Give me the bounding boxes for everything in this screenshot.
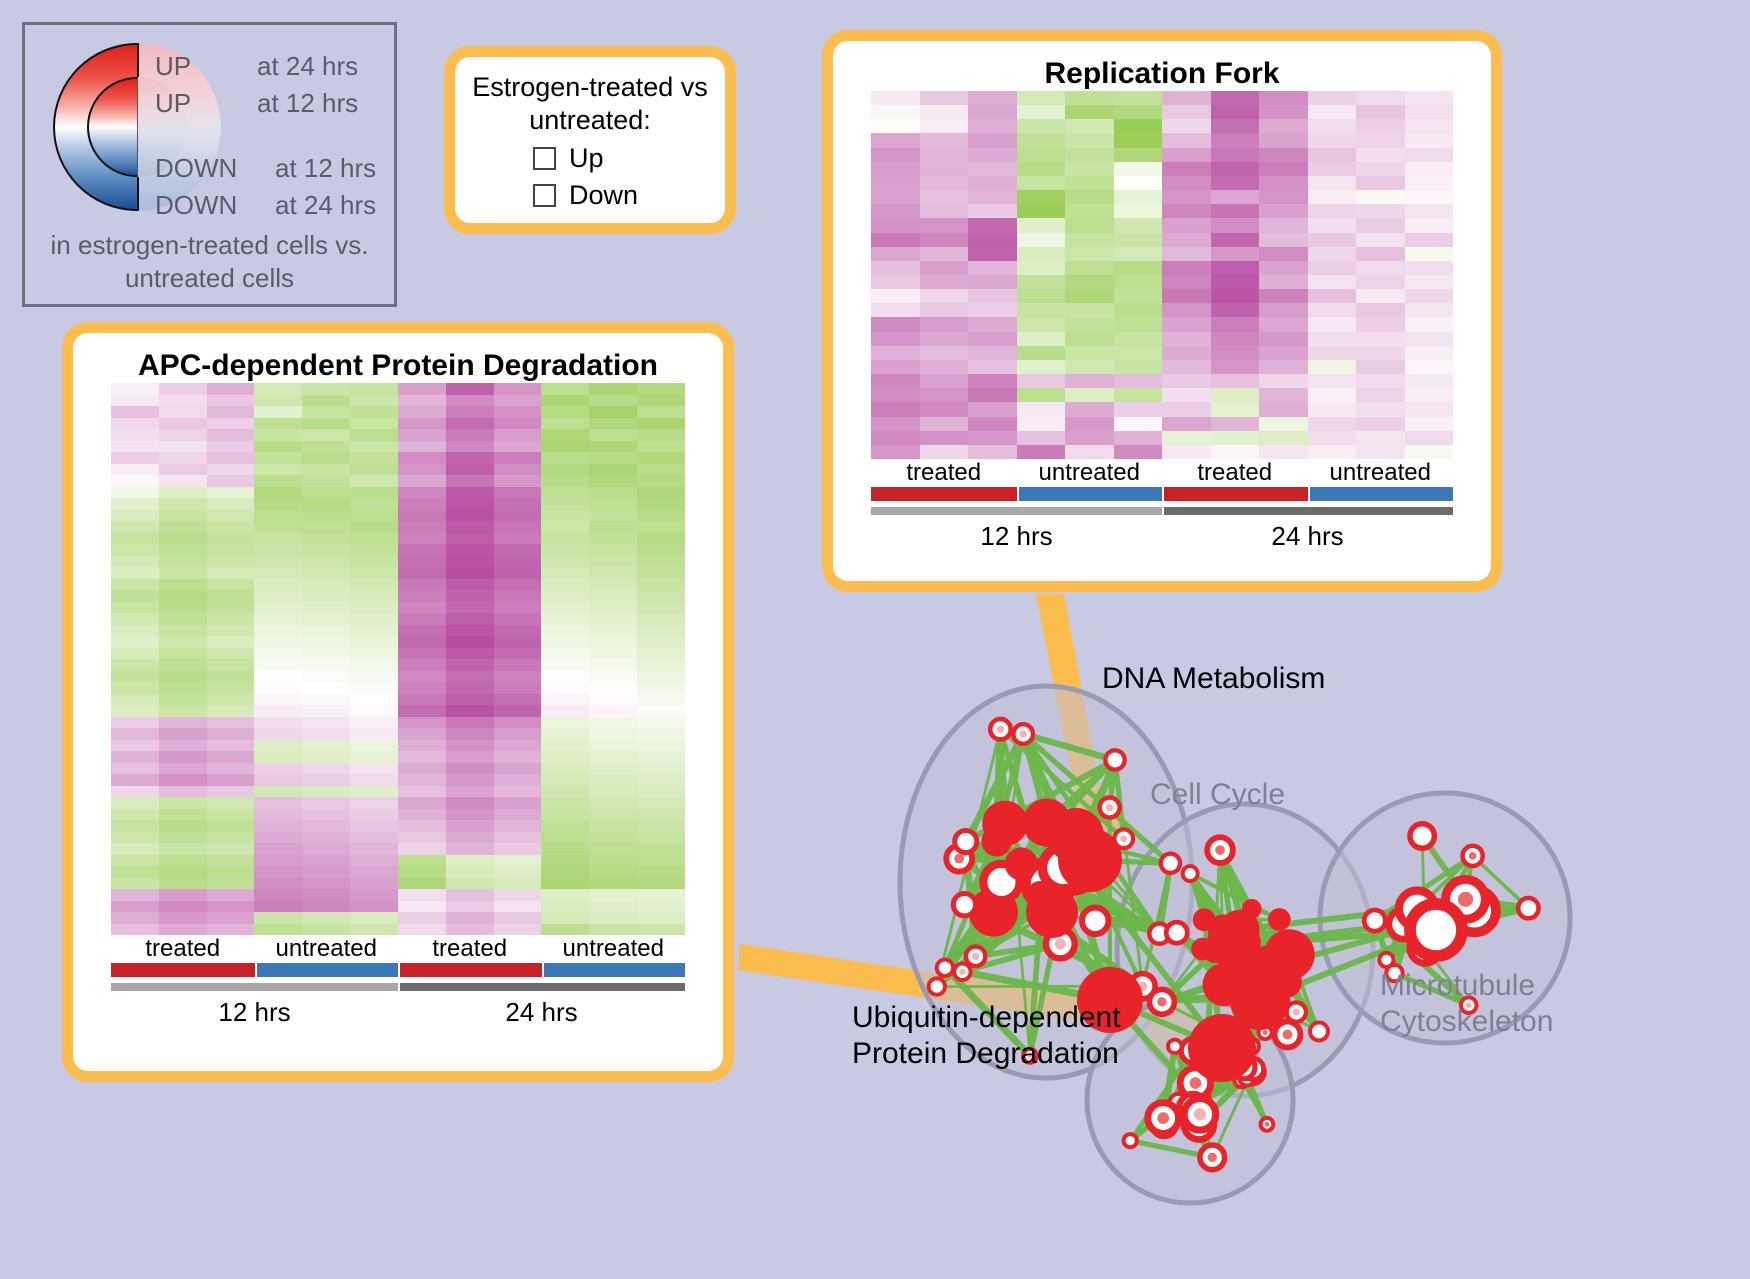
heatmap-cell xyxy=(494,613,542,625)
network-node-center xyxy=(1090,916,1100,926)
heatmap-cell xyxy=(1259,105,1308,119)
heatmap-cell xyxy=(1065,445,1114,459)
heatmap-cell xyxy=(494,429,542,441)
heatmap-cell xyxy=(1065,317,1114,331)
heatmap-cell xyxy=(637,843,685,855)
legend-down-label: Down xyxy=(569,180,638,211)
heatmap-cell xyxy=(1162,275,1211,289)
heatmap-cell xyxy=(159,763,207,775)
treatment-bar-untreated xyxy=(542,963,686,977)
heatmap-cell xyxy=(541,383,589,395)
apc-title: APC-dependent Protein Degradation xyxy=(73,349,723,383)
heatmap-cell xyxy=(159,671,207,683)
heatmap-cell xyxy=(350,429,398,441)
network-node xyxy=(1227,947,1277,997)
heatmap-cell xyxy=(1259,417,1308,431)
heatmap-cell xyxy=(159,912,207,924)
heatmap-cell xyxy=(254,625,302,637)
heatmap-cell xyxy=(350,705,398,717)
heatmap-cell xyxy=(159,728,207,740)
heatmap-cell xyxy=(111,648,159,660)
heatmap-cell xyxy=(111,544,159,556)
heatmap-cell xyxy=(159,475,207,487)
heatmap-cell xyxy=(1162,247,1211,261)
heatmap-cell xyxy=(494,717,542,729)
heatmap-cell xyxy=(494,659,542,671)
heatmap-cell xyxy=(159,636,207,648)
heatmap-cell xyxy=(1308,374,1357,388)
heatmap-cell xyxy=(1211,402,1260,416)
heatmap-cell xyxy=(920,402,969,416)
cluster-label-dna-metabolism: DNA Metabolism xyxy=(1102,662,1325,696)
heatmap-cell xyxy=(1356,133,1405,147)
heatmap-cell xyxy=(494,521,542,533)
heatmap-cell xyxy=(1308,360,1357,374)
heatmap-cell xyxy=(254,590,302,602)
heatmap-cell xyxy=(1405,162,1454,176)
heatmap-cell xyxy=(1114,360,1163,374)
heatmap-cell xyxy=(398,395,446,407)
heatmap-cell xyxy=(1405,261,1454,275)
heatmap-cell xyxy=(589,878,637,890)
heatmap-cell xyxy=(1211,105,1260,119)
heatmap-cell xyxy=(1114,247,1163,261)
heatmap-cell xyxy=(1405,176,1454,190)
heatmap-cell xyxy=(1356,402,1405,416)
heatmap-cell xyxy=(398,636,446,648)
heatmap-cell xyxy=(920,148,969,162)
heatmap-cell xyxy=(1162,332,1211,346)
heatmap-cell xyxy=(637,671,685,683)
heatmap-cell xyxy=(589,809,637,821)
heatmap-cell xyxy=(111,671,159,683)
heatmap-cell xyxy=(589,567,637,579)
heatmap-cell xyxy=(1211,317,1260,331)
heatmap-cell xyxy=(541,464,589,476)
heatmap-cell xyxy=(207,406,255,418)
heatmap-cell xyxy=(494,866,542,878)
heatmap-cell xyxy=(968,317,1017,331)
heatmap-cell xyxy=(254,418,302,430)
heatmap-cell xyxy=(1114,190,1163,204)
heatmap-cell xyxy=(398,487,446,499)
heatmap-cell xyxy=(207,786,255,798)
heatmap-cell xyxy=(446,395,494,407)
heatmap-cell xyxy=(920,247,969,261)
key-label-up-24: UP xyxy=(155,51,191,82)
heatmap-cell xyxy=(1259,91,1308,105)
network-node-center xyxy=(934,983,940,989)
heatmap-cell xyxy=(1211,218,1260,232)
heatmap-cell xyxy=(637,659,685,671)
heatmap-cell xyxy=(207,602,255,614)
heatmap-cell xyxy=(494,418,542,430)
heatmap-cell xyxy=(159,682,207,694)
heatmap-cell xyxy=(968,176,1017,190)
heatmap-cell xyxy=(1211,176,1260,190)
apc-treatment-bars xyxy=(111,963,685,977)
heatmap-cell xyxy=(1017,247,1066,261)
heatmap-cell xyxy=(541,659,589,671)
heatmap-cell xyxy=(302,797,350,809)
heatmap-cell xyxy=(207,774,255,786)
heatmap-cell xyxy=(968,148,1017,162)
heatmap-cell xyxy=(350,682,398,694)
network-node-center xyxy=(1426,920,1446,940)
heatmap-cell xyxy=(589,406,637,418)
network-node-center xyxy=(1208,1153,1217,1162)
heatmap-cell xyxy=(1065,303,1114,317)
heatmap-cell xyxy=(350,924,398,936)
heatmap-cell xyxy=(589,613,637,625)
heatmap-cell xyxy=(1356,346,1405,360)
heatmap-cell xyxy=(111,797,159,809)
heatmap-cell xyxy=(494,671,542,683)
heatmap-cell xyxy=(398,590,446,602)
heatmap-cell xyxy=(159,510,207,522)
heatmap-cell xyxy=(1017,332,1066,346)
heatmap-cell xyxy=(637,418,685,430)
heatmap-cell xyxy=(1259,133,1308,147)
cluster-label-microtubule-cytoskeleton: Microtubule Cytoskeleton xyxy=(1380,968,1553,1040)
heatmap-cell xyxy=(1162,317,1211,331)
heatmap-cell xyxy=(1405,105,1454,119)
treatment-bar-untreated xyxy=(1017,487,1163,501)
heatmap-cell xyxy=(1211,332,1260,346)
heatmap-cell xyxy=(350,441,398,453)
heatmap-cell xyxy=(1017,431,1066,445)
heatmap-cell xyxy=(398,740,446,752)
heatmap-cell xyxy=(302,912,350,924)
heatmap-cell xyxy=(1356,91,1405,105)
heatmap-cell xyxy=(111,843,159,855)
heatmap-cell xyxy=(207,843,255,855)
heatmap-cell xyxy=(1259,119,1308,133)
heatmap-cell xyxy=(968,332,1017,346)
heatmap-cell xyxy=(589,544,637,556)
heatmap-cell xyxy=(1017,133,1066,147)
heatmap-cell xyxy=(1405,119,1454,133)
heatmap-cell xyxy=(254,774,302,786)
time-bar-24-hrs xyxy=(398,983,685,991)
heatmap-cell xyxy=(637,544,685,556)
heatmap-cell xyxy=(254,556,302,568)
heatmap-cell xyxy=(871,176,920,190)
heatmap-cell xyxy=(968,133,1017,147)
heatmap-cell xyxy=(350,740,398,752)
heatmap-cell xyxy=(302,694,350,706)
heatmap-cell xyxy=(446,694,494,706)
heatmap-cell xyxy=(589,498,637,510)
heatmap-cell xyxy=(111,889,159,901)
heatmap-cell xyxy=(159,740,207,752)
heatmap-cell xyxy=(207,797,255,809)
heatmap-cell xyxy=(1114,176,1163,190)
heatmap-cell xyxy=(1356,417,1405,431)
heatmap-cell xyxy=(637,912,685,924)
heatmap-cell xyxy=(1211,374,1260,388)
heatmap-cell xyxy=(398,567,446,579)
color-key-box: UP at 24 hrs UP at 12 hrs DOWN at 12 hrs… xyxy=(22,22,397,307)
apc-time-bars xyxy=(111,983,685,991)
heatmap-cell xyxy=(350,544,398,556)
heatmap-cell xyxy=(159,521,207,533)
heatmap-cell xyxy=(1162,289,1211,303)
heatmap-cell xyxy=(871,261,920,275)
heatmap-cell xyxy=(968,204,1017,218)
heatmap-cell xyxy=(398,878,446,890)
heatmap-cell xyxy=(871,417,920,431)
heatmap-cell xyxy=(446,671,494,683)
network-node-center xyxy=(1128,1138,1133,1143)
heatmap-cell xyxy=(398,613,446,625)
heatmap-cell xyxy=(1114,346,1163,360)
network-node-center xyxy=(995,875,1009,889)
heatmap-cell xyxy=(1162,91,1211,105)
heatmap-cell xyxy=(1211,275,1260,289)
network-node-center xyxy=(1316,1028,1323,1035)
heatmap-cell xyxy=(254,901,302,913)
heatmap-cell xyxy=(159,786,207,798)
heatmap-cell xyxy=(1211,91,1260,105)
heatmap-cell xyxy=(398,682,446,694)
heatmap-cell xyxy=(1017,148,1066,162)
heatmap-cell xyxy=(1065,247,1114,261)
heatmap-cell xyxy=(1356,190,1405,204)
network-node-center xyxy=(1525,904,1533,912)
heatmap-cell xyxy=(637,487,685,499)
heatmap-cell xyxy=(254,659,302,671)
heatmap-cell xyxy=(1162,261,1211,275)
heatmap-cell xyxy=(541,878,589,890)
heatmap-cell xyxy=(398,556,446,568)
heatmap-cell xyxy=(1065,332,1114,346)
heatmap-cell xyxy=(302,579,350,591)
heatmap-cell xyxy=(1162,233,1211,247)
heatmap-cell xyxy=(589,889,637,901)
heatmap-cell xyxy=(1114,289,1163,303)
heatmap-cell xyxy=(207,924,255,936)
heatmap-cell xyxy=(446,763,494,775)
heatmap-cell xyxy=(1308,148,1357,162)
legend-item-up: Up xyxy=(533,143,725,174)
heatmap-cell xyxy=(1114,204,1163,218)
heatmap-cell xyxy=(302,464,350,476)
heatmap-cell xyxy=(1017,275,1066,289)
heatmap-cell xyxy=(1017,190,1066,204)
heatmap-cell xyxy=(446,487,494,499)
heatmap-cell xyxy=(1356,317,1405,331)
heatmap-cell xyxy=(159,590,207,602)
heatmap-cell xyxy=(589,740,637,752)
heatmap-cell xyxy=(398,406,446,418)
heatmap-cell xyxy=(1259,218,1308,232)
treatment-bar-untreated xyxy=(1308,487,1454,501)
heatmap-cell xyxy=(541,636,589,648)
heatmap-cell xyxy=(111,613,159,625)
heatmap-cell xyxy=(1356,162,1405,176)
heatmap-cell xyxy=(494,786,542,798)
heatmap-cell xyxy=(1114,431,1163,445)
heatmap-cell xyxy=(920,105,969,119)
heatmap-cell xyxy=(159,544,207,556)
heatmap-cell xyxy=(589,820,637,832)
heatmap-cell xyxy=(1065,346,1114,360)
heatmap-cell xyxy=(207,682,255,694)
heatmap-cell xyxy=(589,429,637,441)
network-node-center xyxy=(1187,871,1193,877)
heatmap-cell xyxy=(494,533,542,545)
heatmap-cell xyxy=(920,91,969,105)
heatmap-cell xyxy=(637,464,685,476)
heatmap-cell xyxy=(302,544,350,556)
network-node-center xyxy=(1156,930,1164,938)
heatmap-cell xyxy=(398,774,446,786)
heatmap-cell xyxy=(207,567,255,579)
heatmap-cell xyxy=(1308,402,1357,416)
heatmap-cell xyxy=(302,590,350,602)
heatmap-cell xyxy=(254,579,302,591)
heatmap-cell xyxy=(207,613,255,625)
replication-fork-time-labels: 12 hrs24 hrs xyxy=(871,521,1453,552)
heatmap-cell xyxy=(446,774,494,786)
heatmap-cell xyxy=(968,289,1017,303)
heatmap-cell xyxy=(398,924,446,936)
heatmap-cell xyxy=(541,774,589,786)
heatmap-cell xyxy=(1017,346,1066,360)
heatmap-cell xyxy=(1356,289,1405,303)
heatmap-cell xyxy=(1308,346,1357,360)
heatmap-cell xyxy=(302,395,350,407)
heatmap-cell xyxy=(159,487,207,499)
heatmap-cell xyxy=(398,510,446,522)
time-label: 12 hrs xyxy=(111,997,398,1028)
heatmap-cell xyxy=(1405,148,1454,162)
heatmap-cell xyxy=(446,832,494,844)
heatmap-cell xyxy=(207,521,255,533)
heatmap-cell xyxy=(494,855,542,867)
heatmap-cell xyxy=(1114,388,1163,402)
heatmap-cell xyxy=(111,763,159,775)
heatmap-cell xyxy=(1114,105,1163,119)
heatmap-cell xyxy=(398,533,446,545)
heatmap-cell xyxy=(446,751,494,763)
group-label: untreated xyxy=(1017,459,1163,487)
heatmap-cell xyxy=(920,218,969,232)
heatmap-cell xyxy=(920,204,969,218)
heatmap-cell xyxy=(254,797,302,809)
heatmap-cell xyxy=(1114,162,1163,176)
heatmap-cell xyxy=(494,705,542,717)
heatmap-cell xyxy=(207,694,255,706)
heatmap-cell xyxy=(207,498,255,510)
heatmap-cell xyxy=(111,590,159,602)
heatmap-cell xyxy=(494,843,542,855)
heatmap-cell xyxy=(589,659,637,671)
key-label-down-12: DOWN xyxy=(155,153,237,184)
cluster-label-cell-cycle: Cell Cycle xyxy=(1150,778,1285,812)
heatmap-cell xyxy=(1162,360,1211,374)
heatmap-cell xyxy=(1017,218,1066,232)
heatmap-cell xyxy=(302,567,350,579)
heatmap-cell xyxy=(254,636,302,648)
heatmap-cell xyxy=(350,763,398,775)
heatmap-cell xyxy=(541,866,589,878)
heatmap-cell xyxy=(446,464,494,476)
heatmap-cell xyxy=(302,441,350,453)
heatmap-cell xyxy=(446,567,494,579)
apc-heatmap xyxy=(111,383,685,935)
heatmap-cell xyxy=(398,383,446,395)
network-node-center xyxy=(1265,1122,1270,1127)
heatmap-cell xyxy=(302,533,350,545)
heatmap-cell xyxy=(350,751,398,763)
heatmap-cell xyxy=(302,740,350,752)
network-node xyxy=(982,801,1028,847)
heatmap-cell xyxy=(541,590,589,602)
heatmap-cell xyxy=(207,648,255,660)
heatmap-cell xyxy=(446,475,494,487)
heatmap-cell xyxy=(1114,332,1163,346)
heatmap-cell xyxy=(541,429,589,441)
heatmap-cell xyxy=(159,648,207,660)
heatmap-cell xyxy=(494,763,542,775)
heatmap-cell xyxy=(350,510,398,522)
heatmap-cell xyxy=(398,625,446,637)
heatmap-cell xyxy=(446,636,494,648)
network-node-center xyxy=(942,965,948,971)
pathway-network-diagram: DNA Metabolism Cell Cycle Microtubule Cy… xyxy=(790,600,1750,1279)
heatmap-cell xyxy=(398,602,446,614)
heatmap-cell xyxy=(920,417,969,431)
heatmap-cell xyxy=(254,763,302,775)
heatmap-cell xyxy=(871,275,920,289)
heatmap-cell xyxy=(637,728,685,740)
heatmap-cell xyxy=(1114,374,1163,388)
heatmap-cell xyxy=(207,441,255,453)
heatmap-cell xyxy=(398,866,446,878)
heatmap-cell xyxy=(302,498,350,510)
heatmap-cell xyxy=(1211,162,1260,176)
heatmap-cell xyxy=(1356,204,1405,218)
heatmap-cell xyxy=(159,855,207,867)
heatmap-cell xyxy=(207,763,255,775)
heatmap-cell xyxy=(589,395,637,407)
heatmap-cell xyxy=(111,878,159,890)
heatmap-cell xyxy=(637,820,685,832)
heatmap-cell xyxy=(1065,133,1114,147)
heatmap-cell xyxy=(350,843,398,855)
heatmap-cell xyxy=(637,832,685,844)
heatmap-cell xyxy=(637,866,685,878)
heatmap-cell xyxy=(207,705,255,717)
heatmap-cell xyxy=(589,901,637,913)
heatmap-cell xyxy=(1259,247,1308,261)
heatmap-cell xyxy=(1405,360,1454,374)
heatmap-cell xyxy=(350,694,398,706)
heatmap-cell xyxy=(111,912,159,924)
heatmap-cell xyxy=(589,648,637,660)
heatmap-cell xyxy=(350,671,398,683)
heatmap-cell xyxy=(1405,204,1454,218)
heatmap-cell xyxy=(111,832,159,844)
heatmap-cell xyxy=(1356,303,1405,317)
treatment-bar-untreated xyxy=(255,963,399,977)
heatmap-cell xyxy=(541,671,589,683)
heatmap-cell xyxy=(446,843,494,855)
heatmap-cell xyxy=(159,567,207,579)
heatmap-cell xyxy=(920,190,969,204)
